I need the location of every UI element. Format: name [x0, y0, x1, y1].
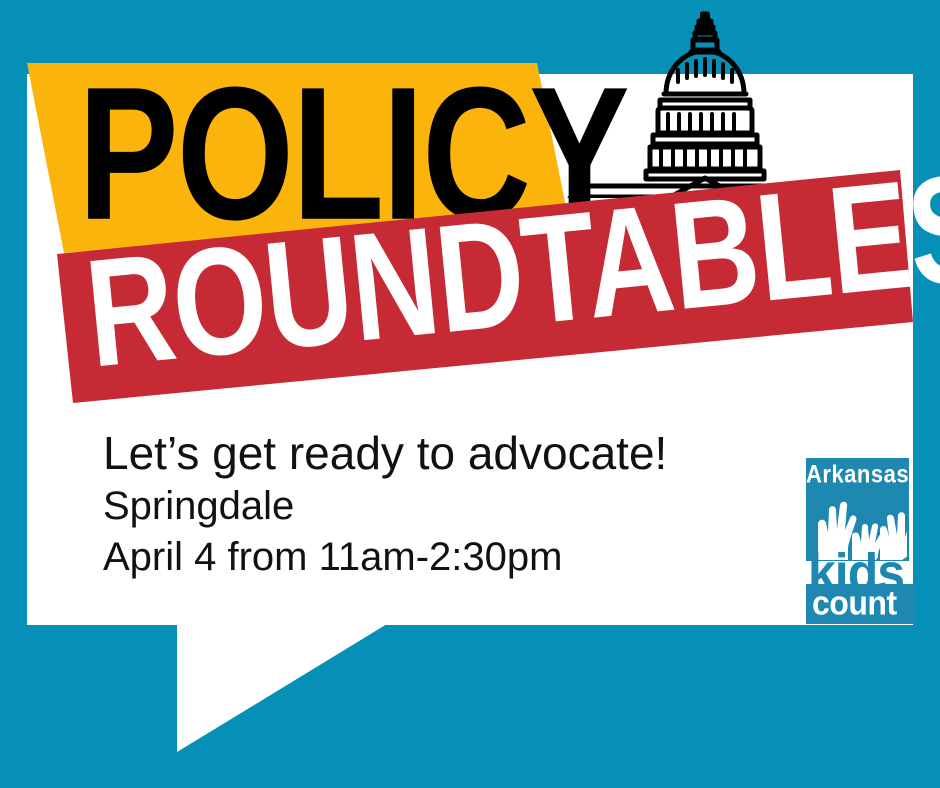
event-details: Let’s get ready to advocate! Springdale … [103, 425, 793, 583]
location-text: Springdale [103, 481, 793, 532]
tagline-text: Let’s get ready to advocate! [103, 425, 793, 481]
speech-bubble-tail [177, 624, 387, 752]
datetime-text: April 4 from 11am-2:30pm [103, 532, 793, 583]
capitol-building-icon [560, 8, 850, 198]
logo-state-label: Arkansas [806, 460, 909, 489]
poster-canvas: POLICY [0, 0, 940, 788]
logo-count-word: count [812, 586, 897, 620]
arkansas-kids-count-logo: Arkansas kids count [806, 458, 916, 624]
